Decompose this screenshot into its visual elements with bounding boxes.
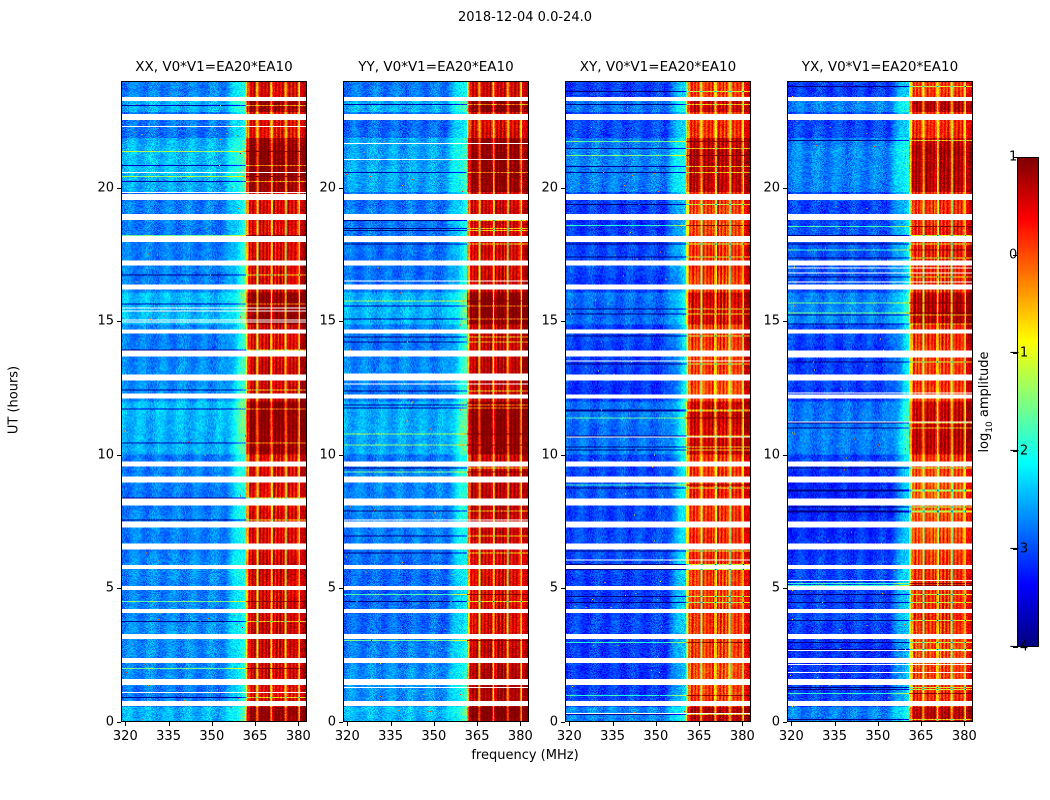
heatmap-axes-yx[interactable] (787, 81, 973, 722)
x-tick-mark (613, 722, 614, 726)
colorbar-label-suffix: amplitude (977, 351, 992, 421)
colorbar-tick-mark (1013, 647, 1018, 648)
figure-canvas: 2018-12-04 0.0-24.0 XX, V0*V1=EA20*EA10 … (0, 0, 1050, 800)
x-tick-label: 335 (156, 729, 181, 744)
colorbar-tick-mark (1013, 255, 1018, 256)
colorbar[interactable] (1017, 157, 1039, 647)
y-tick-mark (561, 455, 565, 456)
x-tick-mark (212, 722, 213, 726)
y-tick-label: 20 (319, 180, 336, 195)
y-tick-label: 10 (541, 447, 558, 462)
x-tick-mark (964, 722, 965, 726)
x-tick-label: 380 (286, 729, 311, 744)
panel-xy: XY, V0*V1=EA20*EA10 32033535036538005101… (565, 81, 751, 722)
y-tick-mark (783, 321, 787, 322)
x-axis-label: frequency (MHz) (0, 748, 1050, 763)
colorbar-label-prefix: log (977, 433, 992, 453)
colorbar-tick-mark (1013, 549, 1018, 550)
y-tick-label: 0 (328, 715, 336, 730)
panel-title-yy: YY, V0*V1=EA20*EA10 (358, 59, 513, 75)
y-tick-mark (783, 588, 787, 589)
x-tick-label: 350 (199, 729, 224, 744)
y-tick-mark (561, 588, 565, 589)
y-tick-mark (783, 722, 787, 723)
panel-yx: YX, V0*V1=EA20*EA10 32033535036538005101… (787, 81, 973, 722)
panel-xx: XX, V0*V1=EA20*EA10 32033535036538005101… (121, 81, 307, 722)
y-tick-label: 10 (319, 447, 336, 462)
y-axis-label: UT (hours) (7, 366, 22, 434)
colorbar-tick-mark (1013, 157, 1018, 158)
y-tick-label: 5 (328, 581, 336, 596)
x-tick-label: 335 (600, 729, 625, 744)
y-tick-label: 5 (550, 581, 558, 596)
panel-title-yx: YX, V0*V1=EA20*EA10 (802, 59, 958, 75)
y-tick-label: 5 (106, 581, 114, 596)
y-tick-label: 20 (541, 180, 558, 195)
heatmap-axes-xy[interactable] (565, 81, 751, 722)
y-tick-mark (339, 722, 343, 723)
y-tick-label: 0 (550, 715, 558, 730)
x-tick-mark (699, 722, 700, 726)
y-tick-label: 20 (763, 180, 780, 195)
x-tick-mark (125, 722, 126, 726)
panel-yy: YY, V0*V1=EA20*EA10 32033535036538005101… (343, 81, 529, 722)
y-tick-mark (117, 722, 121, 723)
x-tick-mark (835, 722, 836, 726)
x-tick-label: 350 (421, 729, 446, 744)
y-tick-label: 0 (772, 715, 780, 730)
y-tick-label: 15 (763, 314, 780, 329)
y-tick-label: 10 (763, 447, 780, 462)
x-tick-mark (520, 722, 521, 726)
y-tick-label: 15 (97, 314, 114, 329)
y-tick-label: 10 (97, 447, 114, 462)
x-tick-mark (878, 722, 879, 726)
x-tick-mark (169, 722, 170, 726)
x-tick-label: 350 (865, 729, 890, 744)
y-tick-mark (117, 188, 121, 189)
y-tick-mark (783, 188, 787, 189)
x-tick-label: 335 (378, 729, 403, 744)
x-tick-label: 365 (465, 729, 490, 744)
x-tick-mark (434, 722, 435, 726)
colorbar-tick-mark (1013, 451, 1018, 452)
y-tick-label: 5 (772, 581, 780, 596)
y-tick-mark (561, 722, 565, 723)
y-tick-mark (339, 188, 343, 189)
y-tick-mark (783, 455, 787, 456)
y-tick-mark (339, 321, 343, 322)
x-tick-label: 320 (557, 729, 582, 744)
x-tick-label: 320 (335, 729, 360, 744)
y-tick-label: 0 (106, 715, 114, 730)
panel-title-xx: XX, V0*V1=EA20*EA10 (135, 59, 292, 75)
y-tick-mark (117, 321, 121, 322)
x-tick-mark (298, 722, 299, 726)
colorbar-label-subscript: 10 (985, 421, 995, 432)
x-tick-label: 320 (113, 729, 138, 744)
x-tick-label: 365 (243, 729, 268, 744)
x-tick-label: 320 (779, 729, 804, 744)
x-tick-mark (921, 722, 922, 726)
x-tick-label: 380 (508, 729, 533, 744)
x-tick-mark (569, 722, 570, 726)
x-tick-mark (791, 722, 792, 726)
y-tick-mark (339, 455, 343, 456)
x-tick-mark (391, 722, 392, 726)
y-tick-label: 15 (541, 314, 558, 329)
y-tick-label: 20 (97, 180, 114, 195)
y-tick-mark (561, 188, 565, 189)
y-tick-mark (117, 455, 121, 456)
panel-title-xy: XY, V0*V1=EA20*EA10 (580, 59, 736, 75)
heatmap-axes-xx[interactable] (121, 81, 307, 722)
y-tick-mark (117, 588, 121, 589)
x-tick-mark (656, 722, 657, 726)
x-tick-mark (347, 722, 348, 726)
y-tick-mark (339, 588, 343, 589)
x-tick-mark (255, 722, 256, 726)
x-tick-label: 365 (687, 729, 712, 744)
y-tick-label: 15 (319, 314, 336, 329)
colorbar-label: log10 amplitude (977, 351, 995, 452)
y-tick-mark (561, 321, 565, 322)
colorbar-tick-mark (1013, 353, 1018, 354)
figure-suptitle: 2018-12-04 0.0-24.0 (0, 10, 1050, 25)
x-tick-label: 380 (730, 729, 755, 744)
x-tick-label: 380 (952, 729, 977, 744)
x-tick-mark (742, 722, 743, 726)
x-tick-label: 350 (643, 729, 668, 744)
x-tick-label: 335 (822, 729, 847, 744)
heatmap-axes-yy[interactable] (343, 81, 529, 722)
x-tick-label: 365 (909, 729, 934, 744)
x-tick-mark (477, 722, 478, 726)
